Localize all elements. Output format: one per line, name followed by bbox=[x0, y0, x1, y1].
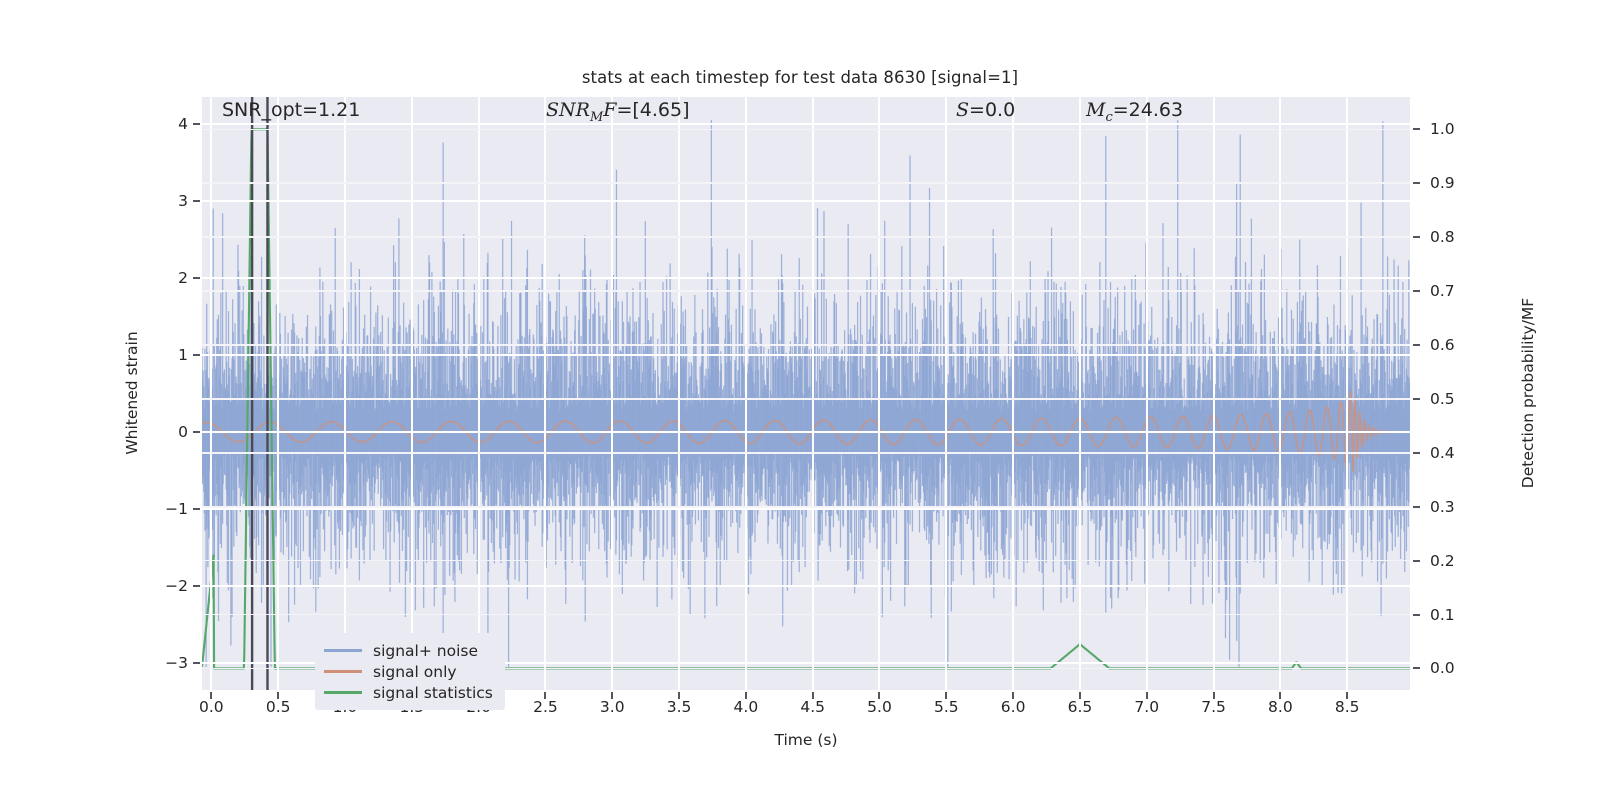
ytick-mark-right bbox=[1413, 398, 1420, 400]
gridline-horizontal-right bbox=[202, 452, 1410, 454]
ytick-mark-left bbox=[193, 200, 200, 202]
xtick-label: 4.5 bbox=[800, 698, 825, 716]
legend[interactable]: signal+ noise signal only signal statist… bbox=[315, 633, 505, 710]
gridline-horizontal-right bbox=[202, 182, 1410, 184]
ytick-label-right: 0.3 bbox=[1430, 498, 1455, 516]
ytick-mark-right bbox=[1413, 290, 1420, 292]
ytick-label-right: 1.0 bbox=[1430, 120, 1455, 138]
xtick-label: 5.0 bbox=[867, 698, 892, 716]
gridline-vertical bbox=[812, 97, 814, 690]
figure-canvas: stats at each timestep for test data 863… bbox=[0, 0, 1600, 800]
xtick-label: 3.5 bbox=[667, 698, 692, 716]
annotation-snr-opt: SNR_opt=1.21 bbox=[222, 99, 360, 121]
legend-item-signal-only[interactable]: signal only bbox=[324, 661, 493, 682]
xtick-label: 5.5 bbox=[934, 698, 959, 716]
annotation-snr-mf: SNRMF=[4.65] bbox=[546, 99, 690, 125]
ytick-label-left: 2 bbox=[178, 269, 188, 287]
gridline-vertical bbox=[611, 97, 613, 690]
ytick-label-right: 0.6 bbox=[1430, 336, 1455, 354]
annotation-s-value: =0.0 bbox=[969, 99, 1015, 121]
xtick-label: 3.0 bbox=[600, 698, 625, 716]
annotation-snr-mf-suffix: F bbox=[603, 99, 616, 121]
gridline-horizontal-right bbox=[202, 614, 1410, 616]
annotation-mc-symbol: M bbox=[1086, 99, 1105, 121]
ytick-mark-left bbox=[193, 585, 200, 587]
annotation-chirp-mass: Mc=24.63 bbox=[1086, 99, 1183, 125]
annotation-snr-mf-value: =[4.65] bbox=[616, 99, 689, 121]
gridline-vertical bbox=[210, 97, 212, 690]
gridline-vertical bbox=[277, 97, 279, 690]
gridline-horizontal bbox=[202, 585, 1410, 587]
ytick-mark-left bbox=[193, 354, 200, 356]
gridline-vertical bbox=[1346, 97, 1348, 690]
gridline-vertical bbox=[411, 97, 413, 690]
gridline-vertical bbox=[745, 97, 747, 690]
ytick-label-left: −1 bbox=[165, 500, 188, 518]
ytick-label-right: 0.2 bbox=[1430, 552, 1455, 570]
ytick-mark-right bbox=[1413, 344, 1420, 346]
gridline-horizontal bbox=[202, 431, 1410, 433]
gridline-vertical bbox=[478, 97, 480, 690]
xtick-label: 0.0 bbox=[199, 698, 224, 716]
ytick-mark-right bbox=[1413, 560, 1420, 562]
ytick-label-right: 0.7 bbox=[1430, 282, 1455, 300]
gridline-horizontal-right bbox=[202, 344, 1410, 346]
axis-label-x: Time (s) bbox=[774, 731, 837, 749]
gridline-horizontal-right bbox=[202, 398, 1410, 400]
xtick-label: 7.5 bbox=[1201, 698, 1226, 716]
gridline-horizontal bbox=[202, 354, 1410, 356]
xtick-label: 8.5 bbox=[1335, 698, 1360, 716]
plot-svg bbox=[202, 97, 1410, 690]
ytick-label-left: 4 bbox=[178, 115, 188, 133]
ytick-mark-right bbox=[1413, 236, 1420, 238]
xtick-label: 6.5 bbox=[1068, 698, 1093, 716]
ytick-mark-right bbox=[1413, 128, 1420, 130]
gridline-horizontal-right bbox=[202, 290, 1410, 292]
gridline-horizontal bbox=[202, 508, 1410, 510]
gridline-horizontal bbox=[202, 277, 1410, 279]
ytick-label-right: 0.8 bbox=[1430, 228, 1455, 246]
xtick-label: 7.0 bbox=[1134, 698, 1159, 716]
legend-item-signal-statistics[interactable]: signal statistics bbox=[324, 682, 493, 703]
ytick-mark-left bbox=[193, 123, 200, 125]
ytick-label-right: 0.4 bbox=[1430, 444, 1455, 462]
ytick-mark-left bbox=[193, 431, 200, 433]
axis-label-y-right: Detection probability/MF bbox=[1519, 298, 1537, 488]
gridline-horizontal bbox=[202, 123, 1410, 125]
annotation-mc-sub: c bbox=[1105, 110, 1112, 125]
ytick-label-right: 0.5 bbox=[1430, 390, 1455, 408]
page-title: stats at each timestep for test data 863… bbox=[0, 68, 1600, 87]
gridline-horizontal-right bbox=[202, 129, 1410, 131]
legend-swatch-signal-noise bbox=[324, 649, 362, 651]
gridline-horizontal-right bbox=[202, 506, 1410, 508]
annotation-mc-value: =24.63 bbox=[1113, 99, 1183, 121]
ytick-label-right: 0.9 bbox=[1430, 174, 1455, 192]
xtick-label: 8.0 bbox=[1268, 698, 1293, 716]
legend-item-signal-noise[interactable]: signal+ noise bbox=[324, 640, 493, 661]
gridline-vertical bbox=[1279, 97, 1281, 690]
ytick-label-left: −2 bbox=[165, 577, 188, 595]
ytick-label-left: −3 bbox=[165, 654, 188, 672]
gridline-vertical bbox=[1079, 97, 1081, 690]
ytick-mark-left bbox=[193, 662, 200, 664]
annotation-s-symbol: S bbox=[956, 99, 969, 121]
ytick-label-right: 0.1 bbox=[1430, 606, 1455, 624]
legend-label-signal-only: signal only bbox=[373, 663, 457, 681]
ytick-mark-right bbox=[1413, 452, 1420, 454]
annotation-s-statistic: S=0.0 bbox=[956, 99, 1015, 121]
gridline-vertical bbox=[1146, 97, 1148, 690]
gridline-vertical bbox=[678, 97, 680, 690]
ytick-label-left: 1 bbox=[178, 346, 188, 364]
plot-area[interactable] bbox=[202, 97, 1410, 690]
ytick-mark-left bbox=[193, 508, 200, 510]
xtick-label: 2.5 bbox=[533, 698, 558, 716]
gridline-vertical bbox=[878, 97, 880, 690]
gridline-horizontal-right bbox=[202, 560, 1410, 562]
ytick-mark-right bbox=[1413, 506, 1420, 508]
gridline-vertical bbox=[1012, 97, 1014, 690]
xtick-label: 0.5 bbox=[266, 698, 291, 716]
ytick-label-left: 0 bbox=[178, 423, 188, 441]
ytick-mark-right bbox=[1413, 667, 1420, 669]
gridline-vertical bbox=[945, 97, 947, 690]
gridline-horizontal bbox=[202, 200, 1410, 202]
ytick-label-right: 0.0 bbox=[1430, 659, 1455, 677]
xtick-label: 4.0 bbox=[734, 698, 759, 716]
annotation-snr-mf-prefix: SNR bbox=[546, 99, 590, 121]
legend-label-signal-noise: signal+ noise bbox=[373, 642, 478, 660]
ytick-label-left: 3 bbox=[178, 192, 188, 210]
ytick-mark-right bbox=[1413, 182, 1420, 184]
xtick-label: 6.0 bbox=[1001, 698, 1026, 716]
legend-label-signal-statistics: signal statistics bbox=[373, 684, 493, 702]
ytick-mark-right bbox=[1413, 614, 1420, 616]
axis-label-y-left: Whitened strain bbox=[123, 331, 141, 454]
legend-swatch-signal-statistics bbox=[324, 691, 362, 693]
gridline-vertical bbox=[344, 97, 346, 690]
gridline-vertical bbox=[1213, 97, 1215, 690]
legend-swatch-signal-only bbox=[324, 670, 362, 672]
annotation-snr-mf-sub: M bbox=[590, 110, 603, 125]
ytick-mark-left bbox=[193, 277, 200, 279]
gridline-vertical bbox=[544, 97, 546, 690]
gridline-horizontal-right bbox=[202, 236, 1410, 238]
